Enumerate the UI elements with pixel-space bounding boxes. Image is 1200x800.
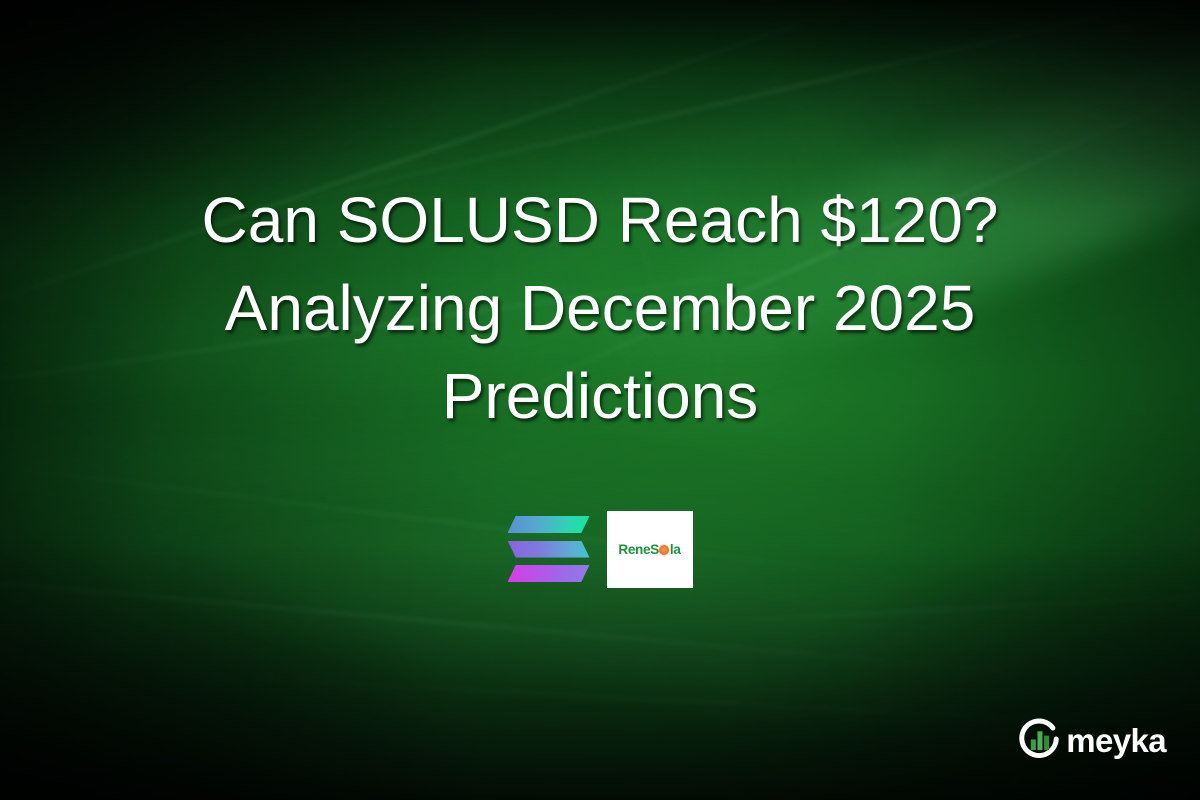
solana-logo-icon — [508, 516, 590, 582]
solana-bar-top — [508, 516, 590, 533]
meyka-chart-ring-icon — [1016, 716, 1062, 762]
logo-row: ReneS la — [0, 505, 1200, 593]
renesola-word-part-2: la — [670, 542, 681, 557]
page-title: Can SOLUSD Reach $120? Analyzing Decembe… — [0, 176, 1200, 440]
meyka-wordmark: meyka — [1066, 724, 1166, 757]
renesola-logo-tile: ReneS la — [607, 511, 693, 588]
meyka-brand-logo: meyka — [1016, 716, 1166, 762]
card-content: Can SOLUSD Reach $120? Analyzing Decembe… — [0, 0, 1200, 800]
social-card: Can SOLUSD Reach $120? Analyzing Decembe… — [0, 0, 1200, 800]
renesola-word-part-1: ReneS — [618, 542, 659, 557]
solana-bar-middle — [508, 541, 590, 558]
title-line-3: Predictions — [72, 352, 1128, 440]
renesola-wordmark: ReneS la — [618, 542, 680, 557]
solana-bar-bottom — [508, 565, 590, 582]
title-line-1: Can SOLUSD Reach $120? — [72, 176, 1128, 264]
sun-icon — [659, 545, 669, 555]
title-line-2: Analyzing December 2025 — [72, 264, 1128, 352]
